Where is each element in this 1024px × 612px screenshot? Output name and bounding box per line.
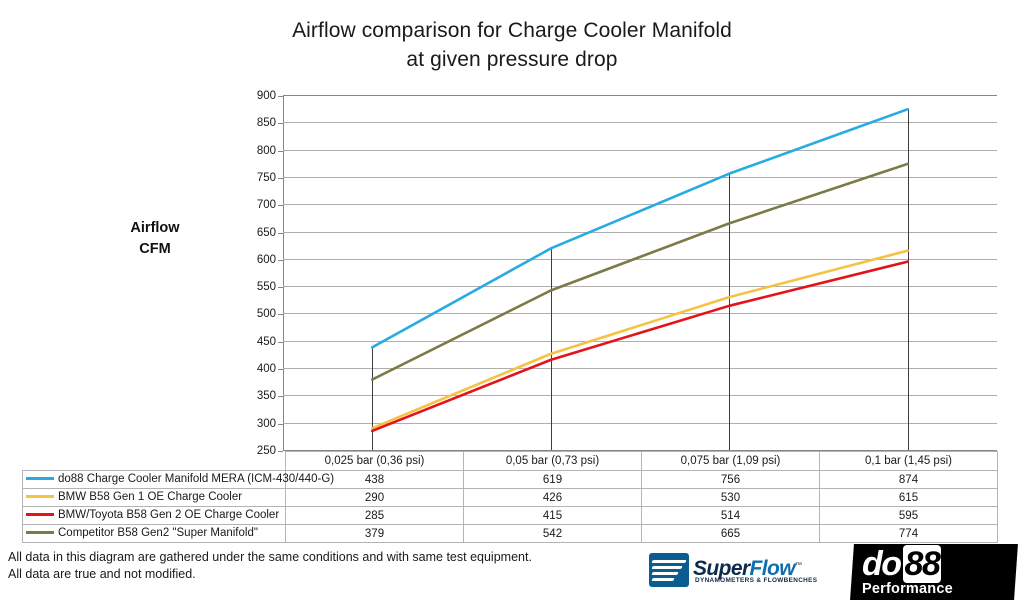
chart-title-line-1: Airflow comparison for Charge Cooler Man… xyxy=(0,16,1024,45)
column-header-0: 0,025 bar (0,36 psi) xyxy=(286,452,464,471)
legend-color-swatch xyxy=(26,531,54,534)
y-tick-label: 850 xyxy=(257,117,276,129)
superflow-trademark: ™ xyxy=(795,562,801,569)
legend-entry-1: BMW B58 Gen 1 OE Charge Cooler xyxy=(23,489,286,507)
y-tick-label: 650 xyxy=(257,227,276,239)
data-cell: 514 xyxy=(642,507,820,525)
superflow-tagline: DYNAMOMETERS & FLOWBENCHES xyxy=(695,577,817,584)
y-tick-label: 800 xyxy=(257,145,276,157)
superflow-logo: SuperFlow™ DYNAMOMETERS & FLOWBENCHES xyxy=(649,551,824,591)
table-header-row: 0,025 bar (0,36 psi)0,05 bar (0,73 psi)0… xyxy=(23,452,998,471)
y-tick-label: 550 xyxy=(257,281,276,293)
data-cell: 665 xyxy=(642,525,820,543)
y-tick-label: 600 xyxy=(257,254,276,266)
chart-title: Airflow comparison for Charge Cooler Man… xyxy=(0,16,1024,74)
footnote: All data in this diagram are gathered un… xyxy=(8,549,532,583)
data-cell: 285 xyxy=(286,507,464,525)
y-tick-label: 300 xyxy=(257,418,276,430)
do88-logo-inner: do88 Performance xyxy=(852,544,1016,600)
y-tick-label: 450 xyxy=(257,336,276,348)
data-cell: 595 xyxy=(820,507,998,525)
footnote-line-1: All data in this diagram are gathered un… xyxy=(8,549,532,566)
series-line-0 xyxy=(372,109,908,347)
footnote-line-2: All data are true and not modified. xyxy=(8,566,532,583)
data-cell: 379 xyxy=(286,525,464,543)
column-header-1: 0,05 bar (0,73 psi) xyxy=(464,452,642,471)
legend-label: do88 Charge Cooler Manifold MERA (ICM-43… xyxy=(58,473,334,485)
y-tick-label: 350 xyxy=(257,390,276,402)
do88-logo: do88 Performance xyxy=(850,544,1018,600)
data-cell: 542 xyxy=(464,525,642,543)
y-tick-label: 900 xyxy=(257,90,276,102)
legend-color-swatch xyxy=(26,495,54,498)
chart-plot-area: 2503003504004505005506006507007508008509… xyxy=(283,95,997,450)
data-cell: 530 xyxy=(642,489,820,507)
legend-color-swatch xyxy=(26,477,54,480)
table-row: BMW B58 Gen 1 OE Charge Cooler2904265306… xyxy=(23,489,998,507)
data-cell: 619 xyxy=(464,471,642,489)
y-axis-title-line-2: CFM xyxy=(110,239,200,260)
series-line-2 xyxy=(372,262,908,431)
y-axis-title-line-1: Airflow xyxy=(110,218,200,239)
data-cell: 756 xyxy=(642,471,820,489)
do88-wordmark: do88 xyxy=(862,545,941,583)
y-tick-label: 400 xyxy=(257,363,276,375)
do88-word-88: 88 xyxy=(903,545,942,583)
y-tick-label: 750 xyxy=(257,172,276,184)
y-axis-title: Airflow CFM xyxy=(110,218,200,260)
data-cell: 426 xyxy=(464,489,642,507)
data-cell: 290 xyxy=(286,489,464,507)
data-table: 0,025 bar (0,36 psi)0,05 bar (0,73 psi)0… xyxy=(22,451,998,543)
chart-title-line-2: at given pressure drop xyxy=(0,45,1024,74)
series-lines xyxy=(283,95,997,450)
column-header-3: 0,1 bar (1,45 psi) xyxy=(820,452,998,471)
legend-label: BMW/Toyota B58 Gen 2 OE Charge Cooler xyxy=(58,509,279,521)
table-row: BMW/Toyota B58 Gen 2 OE Charge Cooler285… xyxy=(23,507,998,525)
table-row: do88 Charge Cooler Manifold MERA (ICM-43… xyxy=(23,471,998,489)
legend-label: BMW B58 Gen 1 OE Charge Cooler xyxy=(58,491,242,503)
data-cell: 874 xyxy=(820,471,998,489)
y-tick-label: 500 xyxy=(257,308,276,320)
do88-word-do: do xyxy=(862,545,901,583)
data-cell: 615 xyxy=(820,489,998,507)
column-header-2: 0,075 bar (1,09 psi) xyxy=(642,452,820,471)
do88-subtitle: Performance xyxy=(862,581,953,597)
y-tick-label: 700 xyxy=(257,199,276,211)
data-cell: 774 xyxy=(820,525,998,543)
table-corner-cell xyxy=(23,452,286,471)
legend-color-swatch xyxy=(26,513,54,516)
legend-entry-2: BMW/Toyota B58 Gen 2 OE Charge Cooler xyxy=(23,507,286,525)
data-cell: 415 xyxy=(464,507,642,525)
legend-entry-3: Competitor B58 Gen2 "Super Manifold" xyxy=(23,525,286,543)
legend-entry-0: do88 Charge Cooler Manifold MERA (ICM-43… xyxy=(23,471,286,489)
table-row: Competitor B58 Gen2 "Super Manifold"3795… xyxy=(23,525,998,543)
superflow-mark-icon xyxy=(649,553,689,587)
legend-label: Competitor B58 Gen2 "Super Manifold" xyxy=(58,527,258,539)
